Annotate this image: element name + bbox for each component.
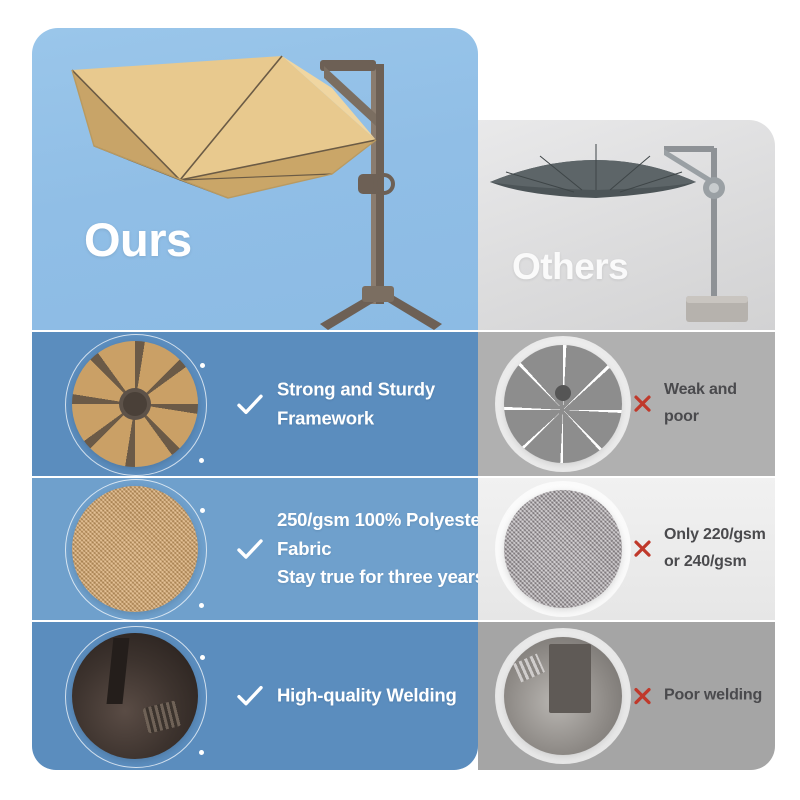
check-icon (237, 394, 263, 414)
feature-line: Poor welding (664, 683, 762, 710)
feature-text: Weak and poor (664, 377, 737, 431)
ours-feature-fabric: 250/gsm 100% Polyester Fabric Stay true … (237, 506, 488, 592)
others-panel-framework: Weak and poor (478, 332, 775, 476)
others-umbrella-image (478, 120, 775, 330)
ours-thumb-framework (72, 341, 198, 467)
ring-dot (200, 363, 205, 368)
feature-text: High-quality Welding (277, 682, 457, 711)
others-panel-fabric: Only 220/gsm or 240/gsm (478, 478, 775, 620)
others-feature-fabric: Only 220/gsm or 240/gsm (633, 522, 766, 576)
feature-line: Stay true for three years (277, 563, 488, 592)
feature-line: Strong and Sturdy (277, 375, 435, 404)
ring-dot (200, 655, 205, 660)
feature-line: Only 220/gsm (664, 522, 766, 549)
feature-line: or 240/gsm (664, 549, 766, 576)
feature-text: Strong and Sturdy Framework (277, 375, 435, 432)
others-thumb-welding (504, 637, 622, 755)
ring-dot (199, 750, 204, 755)
others-feature-framework: Weak and poor (633, 377, 737, 431)
ring-dot (199, 603, 204, 608)
hero-others-label: Others (512, 246, 628, 288)
check-icon (237, 539, 263, 559)
hero-others-panel (478, 120, 775, 330)
ours-panel-welding: High-quality Welding (32, 622, 478, 770)
ours-panel-fabric: 250/gsm 100% Polyester Fabric Stay true … (32, 478, 478, 620)
others-thumb-fabric (504, 490, 622, 608)
feature-line: 250/gsm 100% Polyester (277, 506, 488, 535)
others-feature-welding: Poor welding (633, 683, 762, 710)
hero-ours-panel (32, 28, 478, 330)
cross-icon (633, 540, 652, 559)
tan-polyester-fabric-photo (72, 486, 198, 612)
ring-dot (199, 458, 204, 463)
cross-icon (633, 687, 652, 706)
comparison-row-welding: High-quality Welding Poor welding (0, 622, 800, 770)
comparison-row-framework: Strong and Sturdy Framework Weak and poo… (0, 332, 800, 476)
ours-panel-framework: Strong and Sturdy Framework (32, 332, 478, 476)
feature-line: Weak and (664, 377, 737, 404)
check-icon (237, 686, 263, 706)
others-panel-welding: Poor welding (478, 622, 775, 770)
ours-thumb-welding (72, 633, 198, 759)
high-quality-weld-photo (72, 633, 198, 759)
feature-text: Poor welding (664, 683, 762, 710)
feature-line: Fabric (277, 535, 488, 564)
umbrella-frame-photo (72, 341, 198, 467)
hero-ours-label: Ours (84, 212, 192, 267)
weak-umbrella-frame-photo (504, 345, 622, 463)
poor-weld-photo (504, 637, 622, 755)
comparison-infographic: Ours Others Strong and Sturdy Framework (0, 0, 800, 800)
gray-fabric-photo (504, 490, 622, 608)
feature-line: poor (664, 404, 737, 431)
ours-thumb-fabric (72, 486, 198, 612)
ring-dot (200, 508, 205, 513)
feature-line: High-quality Welding (277, 682, 457, 711)
ours-umbrella-image (32, 28, 478, 330)
others-thumb-framework (504, 345, 622, 463)
feature-line: Framework (277, 404, 435, 433)
ours-feature-welding: High-quality Welding (237, 682, 457, 711)
cross-icon (633, 395, 652, 414)
feature-text: Only 220/gsm or 240/gsm (664, 522, 766, 576)
feature-text: 250/gsm 100% Polyester Fabric Stay true … (277, 506, 488, 592)
comparison-row-fabric: 250/gsm 100% Polyester Fabric Stay true … (0, 478, 800, 620)
ours-feature-framework: Strong and Sturdy Framework (237, 375, 435, 432)
